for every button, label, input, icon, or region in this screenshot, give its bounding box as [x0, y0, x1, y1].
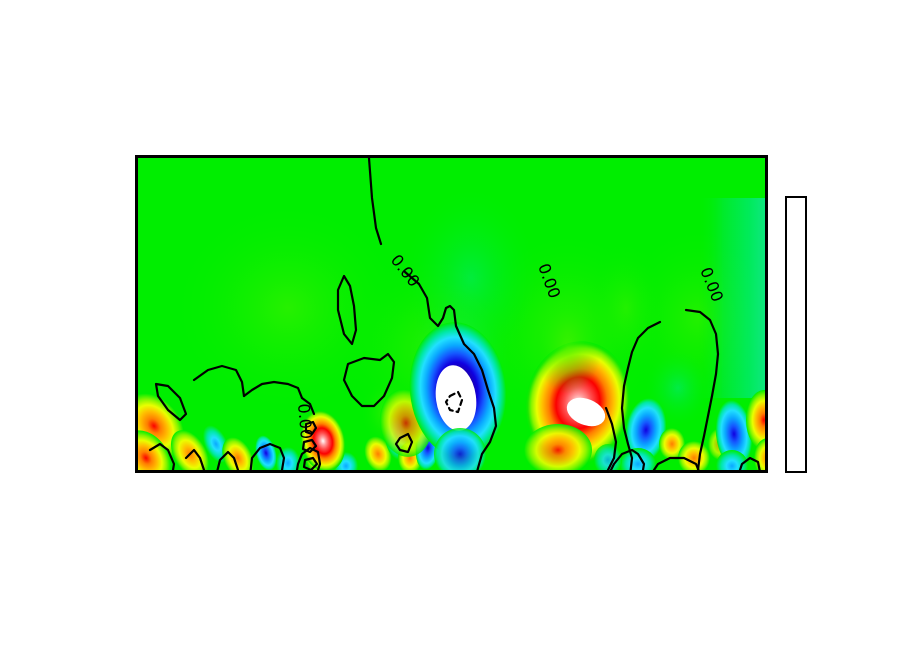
colorbar	[785, 196, 807, 473]
contour-label-3: 0.00	[294, 403, 316, 440]
contour-plot-area: 0.00 0.00 0.00 0.00	[135, 155, 768, 473]
figure-canvas: 0.00 0.00 0.00 0.00	[0, 0, 904, 654]
contour-field: 0.00 0.00 0.00 0.00	[138, 158, 768, 473]
